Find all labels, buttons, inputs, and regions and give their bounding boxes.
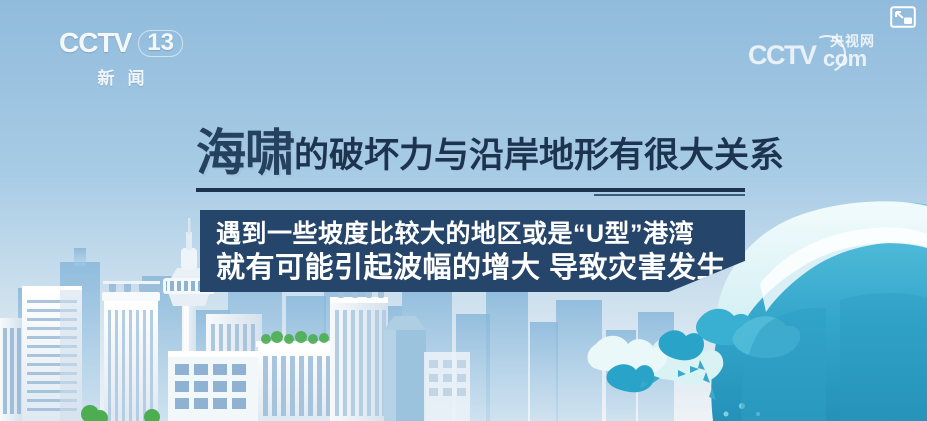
subtitle-panel: 遇到一些坡度比较大的地区或是“U型”港湾 就有可能引起波幅的增大 导致灾害发生	[200, 210, 745, 292]
subtitle-line-1: 遇到一些坡度比较大的地区或是“U型”港湾	[216, 219, 745, 250]
headline-rest: 的破坏力与沿岸地形有很大关系	[294, 136, 784, 177]
channel-logo-row: CCTV 13	[48, 27, 194, 59]
watermark-domain-text: com	[823, 48, 867, 70]
cctv-com-watermark: CCTV 央视网 com	[748, 34, 888, 74]
subtitle-line-2: 就有可能引起波幅的增大 导致灾害发生	[216, 251, 745, 286]
watermark-cctv-text: CCTV	[748, 42, 816, 69]
channel-number: 13	[138, 30, 183, 57]
channel-logo: CCTV 13 新闻	[48, 27, 194, 89]
cctv-wordmark: CCTV	[59, 29, 131, 57]
headline-emphasis: 海啸	[196, 129, 294, 177]
picture-in-picture-icon[interactable]	[890, 6, 916, 28]
channel-name: 新闻	[48, 64, 194, 89]
headline: 海啸 的破坏力与沿岸地形有很大关系	[196, 129, 784, 177]
headline-underline	[196, 188, 745, 192]
broadcast-frame: CCTV 13 新闻 CCTV 央视网 com 海啸 的破坏力与沿岸地形有很大关…	[0, 0, 927, 421]
